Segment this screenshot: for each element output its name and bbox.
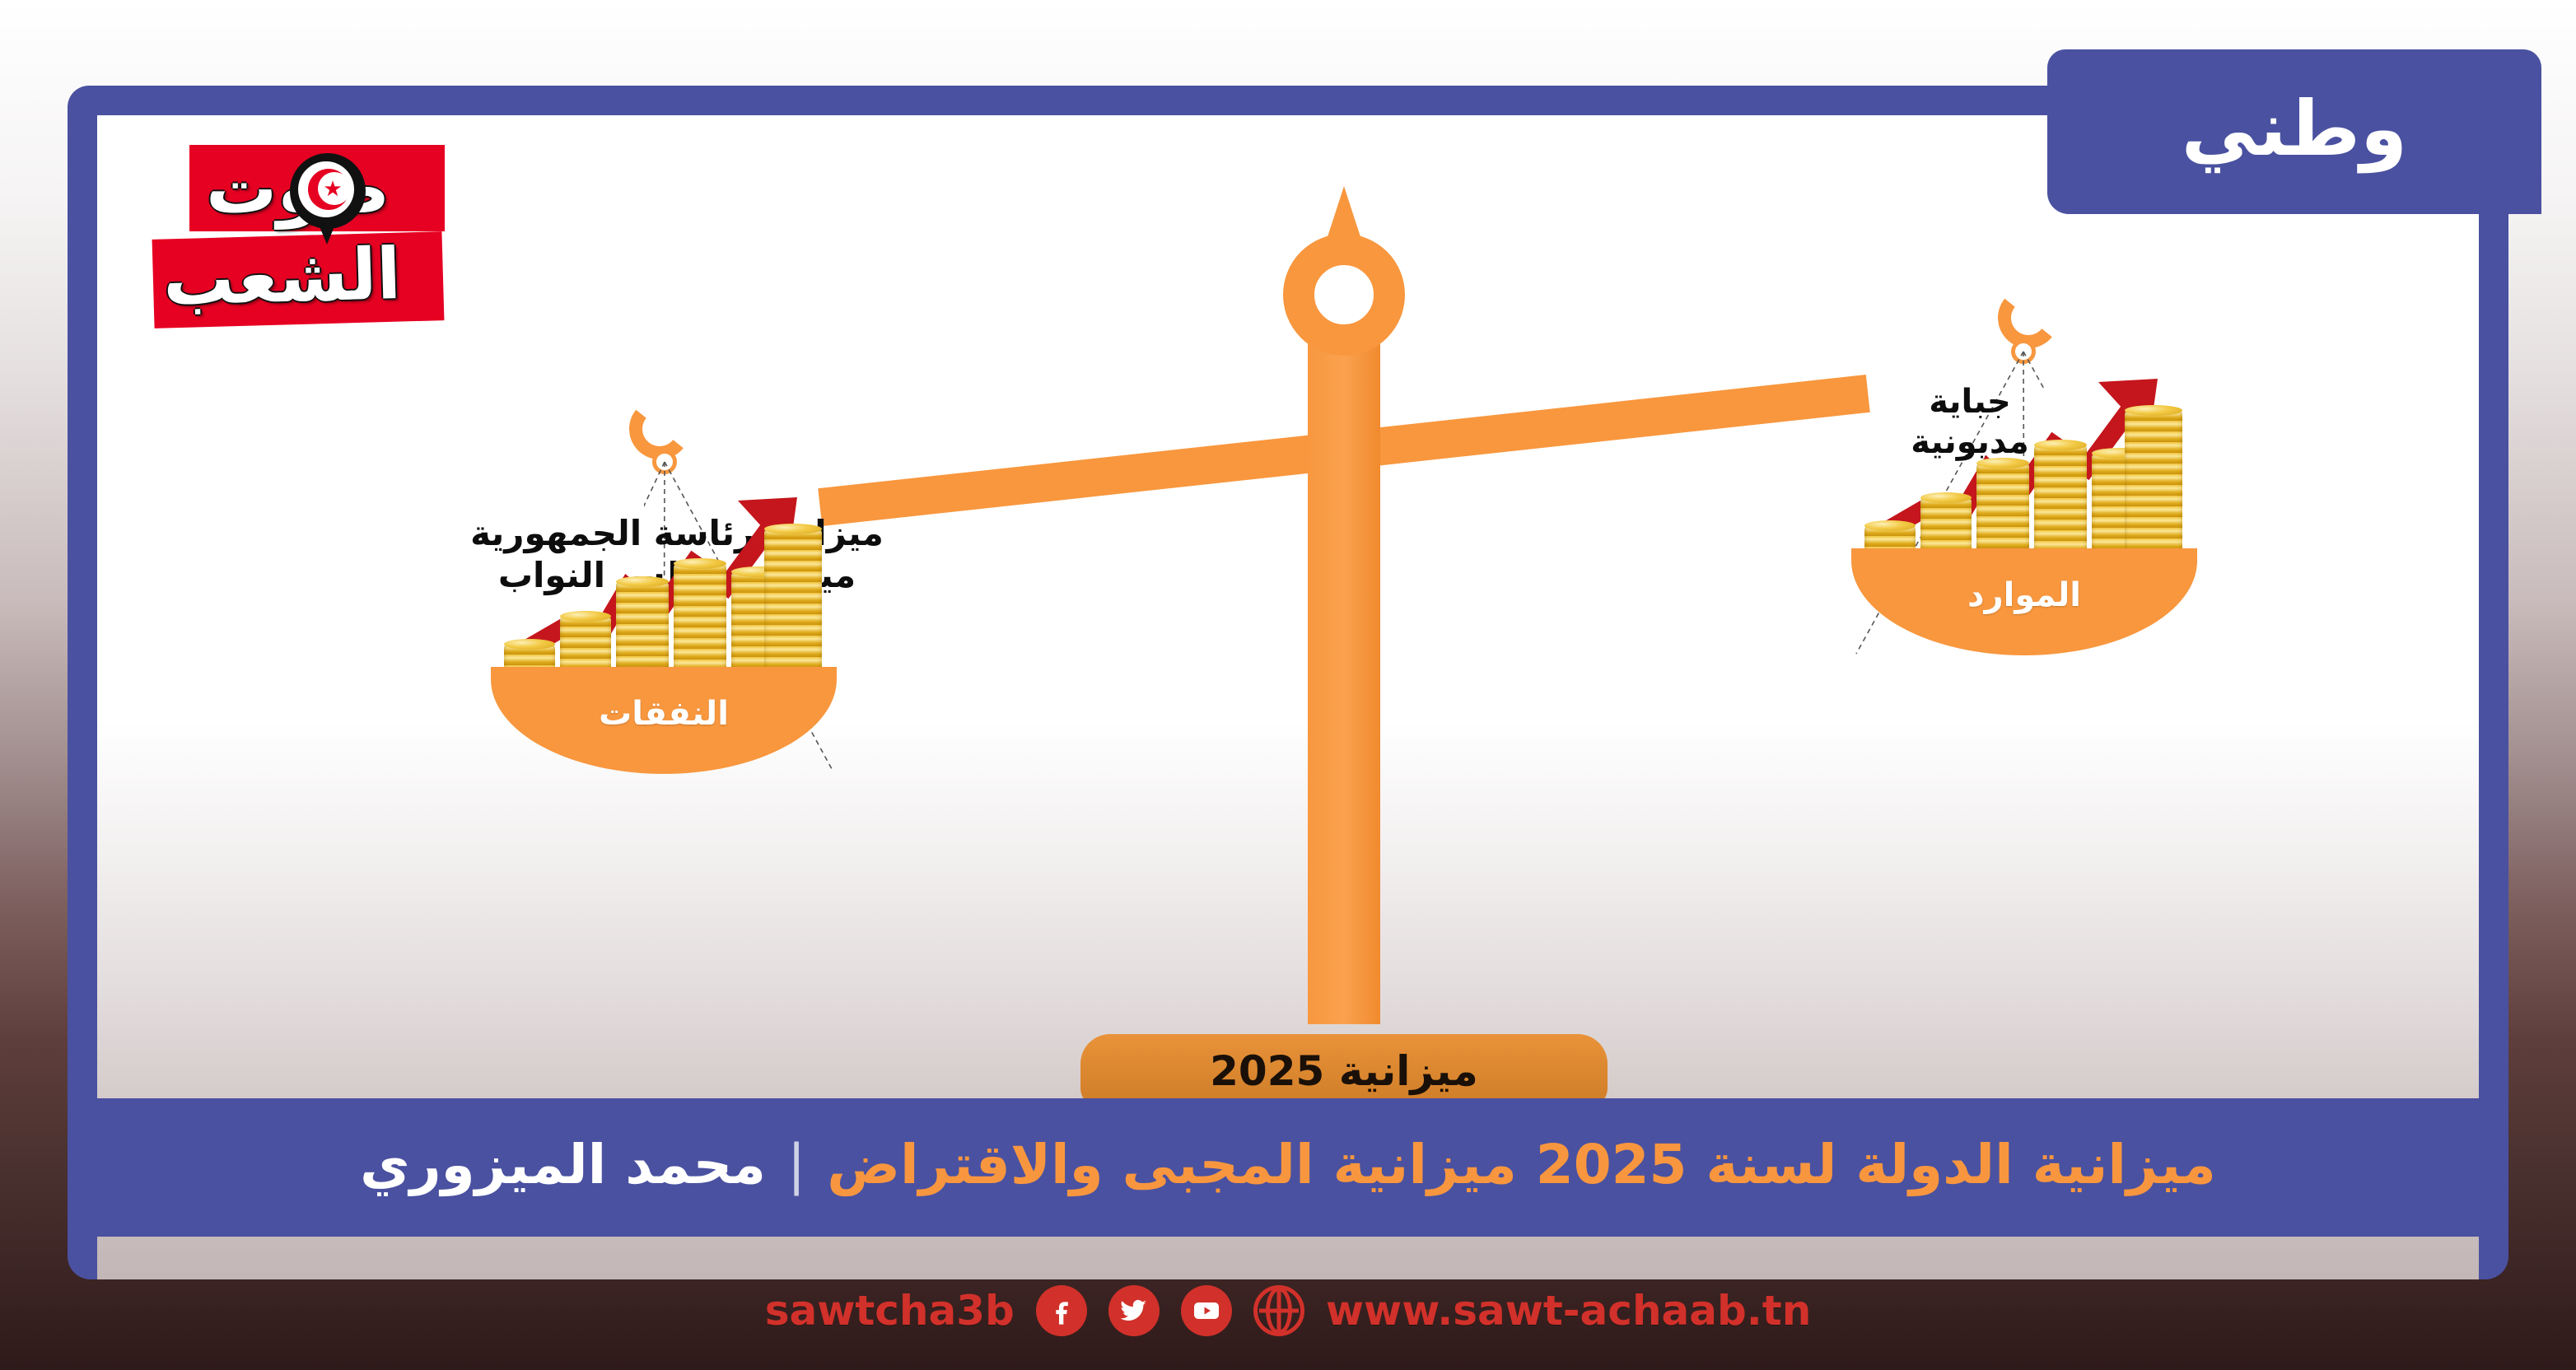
youtube-icon[interactable] (1181, 1285, 1232, 1336)
logo-word-achaab: الشعب (162, 239, 402, 316)
twitter-icon[interactable] (1108, 1285, 1160, 1336)
coin-stack-6 (764, 529, 822, 678)
scale-post (1308, 341, 1380, 1024)
scale-base: ميزانية 2025 (1080, 1034, 1608, 1107)
category-badge-label: وطني (2182, 91, 2407, 172)
pin-tail-shape (315, 217, 338, 245)
globe-icon[interactable] (1253, 1285, 1304, 1336)
left-coin-stacks (491, 464, 837, 678)
headline-title: ميزانية الدولة لسنة 2025 ميزانية المجبى … (827, 1138, 2216, 1192)
tunisia-flag-pin-icon: ★ (290, 153, 366, 229)
footer-website: www.sawt-achaab.tn (1326, 1287, 1811, 1335)
scale-tip (1324, 186, 1364, 247)
site-footer: sawtcha3b www.sawt-achaab.tn (0, 1273, 2576, 1349)
headline-band: ميزانية الدولة لسنة 2025 ميزانية المجبى … (68, 1098, 2508, 1237)
coin-stack-4 (674, 563, 726, 678)
scale-base-label: ميزانية 2025 (1080, 1047, 1608, 1095)
right-coin-stacks (1851, 346, 2197, 560)
headline-author: محمد الميزوري (360, 1138, 766, 1192)
coin-stack-6 (2125, 410, 2182, 560)
pan-label-expenses: النفقات (491, 695, 837, 733)
coin-stack-3 (616, 581, 669, 678)
coin-stack-3 (1976, 463, 2029, 560)
pan-label-resources: الموارد (1851, 576, 2197, 614)
budget-scale-illustration: ميزانية رئاسة الجمهورية ميزانية مجلس الن… (644, 193, 2044, 1107)
site-logo[interactable]: صوت الشعب ★ (135, 138, 464, 328)
coin-stack-4 (2034, 445, 2087, 560)
facebook-icon[interactable] (1036, 1285, 1087, 1336)
footer-handle: sawtcha3b (765, 1287, 1015, 1335)
headline-separator: | (787, 1138, 805, 1192)
globe-meridian (1266, 1287, 1292, 1335)
star-icon: ★ (323, 179, 343, 199)
scale-ring (1283, 234, 1405, 356)
category-badge-national[interactable]: وطني (2047, 49, 2541, 214)
flag-disc: ★ (298, 161, 354, 217)
